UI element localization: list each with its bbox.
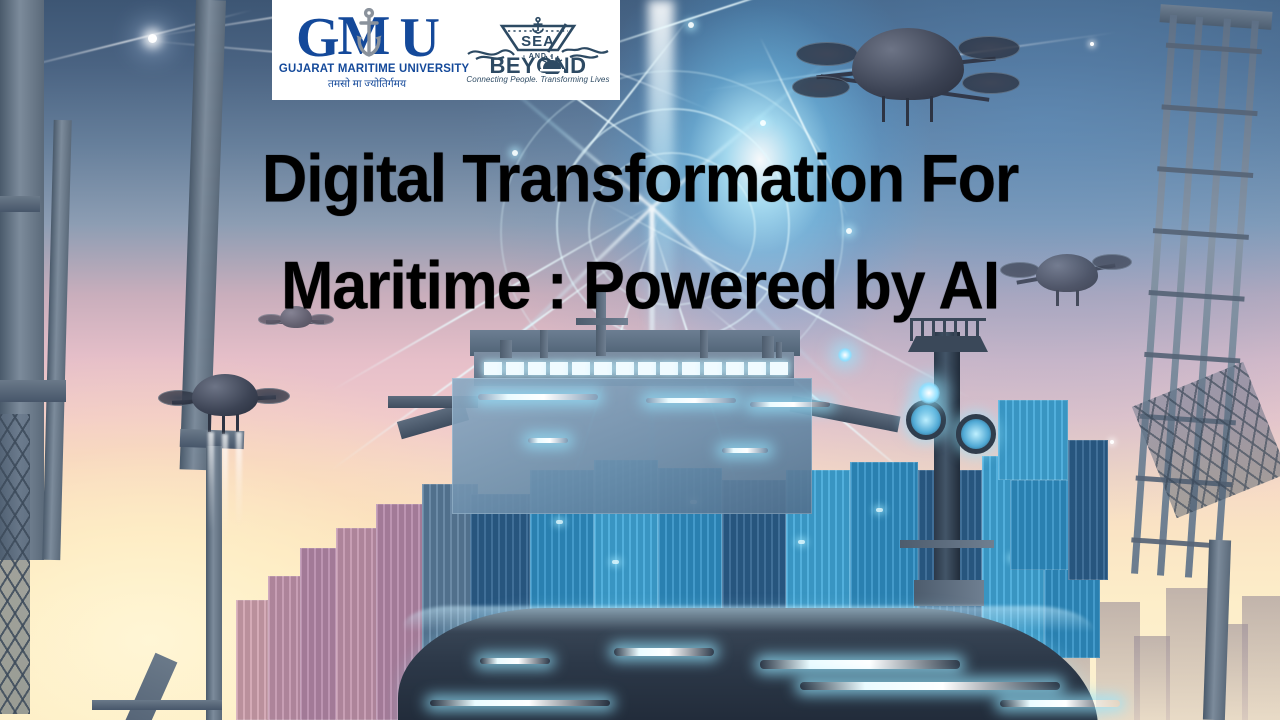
gmu-motto: तमसो मा ज्योतिर्गमय <box>278 77 456 91</box>
gmu-university-name: GUJARAT MARITIME UNIVERSITY <box>279 63 455 75</box>
ship-main-mast <box>934 332 960 600</box>
drone-leg <box>222 416 225 434</box>
bridge-window <box>770 362 788 375</box>
crane-lattice <box>0 414 30 714</box>
drone-rotor <box>962 72 1020 94</box>
cargo-drone-left <box>158 368 290 434</box>
ship-funnel <box>500 340 512 358</box>
bridge-window <box>506 362 524 375</box>
sab-tagline: Connecting People. Transforming Lives <box>462 75 614 84</box>
mast-lower-arm <box>900 540 994 548</box>
drone-leg <box>930 96 933 122</box>
container <box>236 600 268 720</box>
bridge-window <box>682 362 700 375</box>
container-light <box>612 560 619 564</box>
bridge-window <box>660 362 678 375</box>
bridge-window <box>748 362 766 375</box>
container <box>300 548 340 720</box>
drone-leg <box>236 414 239 432</box>
bridge-window <box>484 362 502 375</box>
radar-sensor <box>956 414 996 454</box>
deck-light-strip <box>528 438 568 443</box>
horizon-line <box>540 69 564 71</box>
tower-rung <box>1144 352 1240 364</box>
bridge-window <box>594 362 612 375</box>
page-title: Digital Transformation For Maritime : Po… <box>0 126 1280 340</box>
drone-leg <box>906 98 909 126</box>
deck-light-strip <box>750 402 830 407</box>
drone-light-beam <box>236 432 242 528</box>
beacon-light <box>838 348 852 362</box>
gmu-wordmark: G M <box>278 10 456 62</box>
hull-light-strip <box>760 660 960 669</box>
gmu-logo: G M <box>278 10 456 91</box>
cargo-drone-large <box>790 10 1020 130</box>
sab-text-sea: SEA <box>521 33 555 50</box>
container-light <box>556 520 563 524</box>
sea-and-beyond-logo: SEA - AND - BEYOND <box>462 16 614 84</box>
container-light <box>876 508 883 512</box>
deck-light-strip <box>478 394 598 400</box>
bridge-window <box>726 362 744 375</box>
deck-light-strip <box>646 398 736 403</box>
title-line-2: Maritime : Powered by AI <box>110 233 1170 340</box>
title-line-1: Digital Transformation For <box>110 126 1170 233</box>
slide-canvas: G M <box>0 0 1280 720</box>
drone-body <box>192 374 258 416</box>
skyline-building <box>1134 636 1170 720</box>
drone-rotor <box>958 36 1020 60</box>
gmu-letter-g: G <box>296 14 338 62</box>
drone-rotor <box>792 76 850 98</box>
skyline-building <box>1242 596 1280 720</box>
bridge-window <box>704 362 722 375</box>
sab-text-beyond: BEYOND <box>489 53 586 74</box>
sab-mark: SEA - AND - BEYOND <box>462 16 614 74</box>
bridge-window <box>528 362 546 375</box>
hull-light-strip <box>614 648 714 656</box>
hull-light-strip <box>800 682 1060 690</box>
drone-leg <box>882 96 885 122</box>
container <box>336 528 380 720</box>
star-light-small <box>1090 42 1094 46</box>
logo-bar: G M <box>272 0 620 100</box>
bridge-window <box>616 362 634 375</box>
container <box>268 576 304 720</box>
bridge-window <box>638 362 656 375</box>
bridge-window <box>572 362 590 375</box>
drone-light-beam <box>222 434 228 540</box>
tower-rung <box>1161 104 1257 116</box>
crane-rail <box>92 700 222 710</box>
hull-light-strip <box>480 658 550 664</box>
deck-light-strip <box>722 448 768 453</box>
hull-light-strip <box>430 700 610 706</box>
mast-base <box>914 580 984 606</box>
hull-light-strip <box>1000 700 1120 707</box>
drone-rotor <box>796 42 858 66</box>
gmu-letter-u: U <box>400 14 438 62</box>
star-light-small <box>1110 440 1114 444</box>
container <box>998 400 1068 480</box>
container-light <box>798 540 805 544</box>
container <box>1068 440 1108 580</box>
drone-light-beam <box>208 432 214 532</box>
anchor-icon <box>355 8 383 60</box>
drone-body <box>852 28 964 100</box>
drone-leg <box>208 414 211 432</box>
hull-highlight <box>404 606 1094 632</box>
tower-rung <box>1166 43 1262 55</box>
ship-antenna <box>776 342 782 358</box>
radar-sensor <box>906 400 946 440</box>
mast-light <box>918 382 940 404</box>
bridge-window <box>550 362 568 375</box>
crane-beam <box>0 380 66 402</box>
gmu-letter-m-group: M <box>338 12 400 62</box>
network-node <box>688 22 694 28</box>
sab-emblem: SEA - AND - BEYOND <box>462 16 614 74</box>
